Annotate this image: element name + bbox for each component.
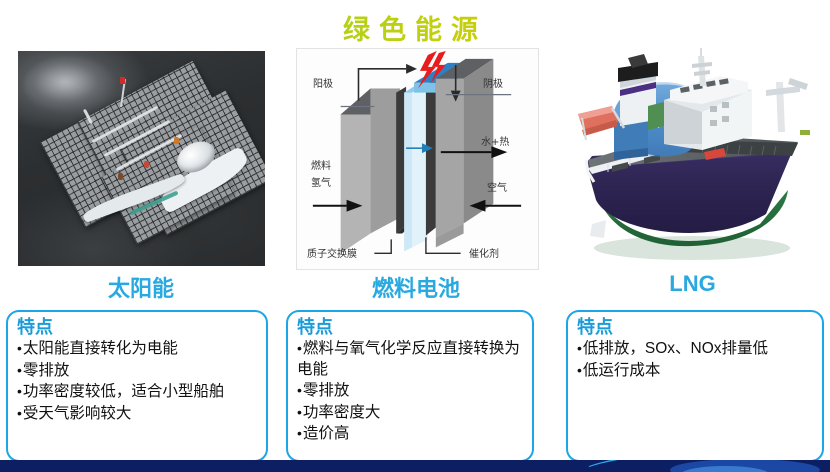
feature-card-fuel-cell: 特点 燃料与氧气化学反应直接转换为电能 零排放 功率密度大 造价高 <box>286 310 534 462</box>
list-item: 低运行成本 <box>577 360 815 382</box>
diagram-label-fuel: 燃料 <box>311 157 331 172</box>
list-item: 零排放 <box>17 360 259 382</box>
diagram-label-cathode: 阴极 <box>483 75 503 90</box>
card-heading: 特点 <box>297 317 525 337</box>
crew-member <box>144 161 149 168</box>
diagram-label-catalyst: 催化剂 <box>469 245 499 260</box>
list-item: 太阳能直接转化为电能 <box>17 338 259 360</box>
diagram-label-anode: 阳极 <box>313 75 333 90</box>
diagram-label-membrane: 质子交换膜 <box>307 245 357 260</box>
column-caption-lng: LNG <box>560 271 825 301</box>
page-title: 绿色能源 <box>0 8 830 47</box>
crew-member <box>118 173 123 180</box>
fuel-cell-schematic-diagram: 阳极 阴极 燃料 氢气 空气 水+热 质子交换膜 催化剂 <box>296 48 539 270</box>
list-item: 燃料与氧气化学反应直接转换为电能 <box>297 338 525 380</box>
lng-carrier-ship-render: LNG <box>552 48 830 273</box>
list-item: 功率密度较低，适合小型船舶 <box>17 381 259 403</box>
slide-footer-bar <box>0 460 830 472</box>
feature-card-solar: 特点 太阳能直接转化为电能 零排放 功率密度较低，适合小型船舶 受天气影响较大 <box>6 310 268 462</box>
feature-card-lng: 特点 低排放，SOx、NOx排量低 低运行成本 <box>566 310 824 462</box>
card-heading: 特点 <box>17 317 259 337</box>
card-heading: 特点 <box>577 317 815 337</box>
mast-flag <box>120 77 125 84</box>
list-item: 低排放，SOx、NOx排量低 <box>577 338 815 360</box>
list-item: 零排放 <box>297 380 525 402</box>
diagram-label-water-heat: 水+热 <box>481 133 509 148</box>
list-item: 功率密度大 <box>297 402 525 424</box>
diagram-label-hydrogen: 氢气 <box>311 174 331 189</box>
lng-ship-svg: LNG <box>552 48 830 273</box>
diagram-label-air: 空气 <box>487 179 507 194</box>
media-row: 阳极 阴极 燃料 氢气 空气 水+热 质子交换膜 催化剂 <box>0 48 830 273</box>
solar-powered-catamaran-photo <box>18 51 265 266</box>
list-item: 受天气影响较大 <box>17 403 259 425</box>
slide-root: 绿色能源 <box>0 0 830 472</box>
column-caption-fuel-cell: 燃料电池 <box>290 271 542 301</box>
feature-list: 燃料与氧气化学反应直接转换为电能 零排放 功率密度大 造价高 <box>297 338 525 445</box>
list-item: 造价高 <box>297 423 525 445</box>
crew-member <box>174 137 179 144</box>
feature-list: 低排放，SOx、NOx排量低 低运行成本 <box>577 338 815 381</box>
boat-wake <box>24 57 116 113</box>
feature-list: 太阳能直接转化为电能 零排放 功率密度较低，适合小型船舶 受天气影响较大 <box>17 338 259 424</box>
column-caption-solar: 太阳能 <box>10 271 272 301</box>
